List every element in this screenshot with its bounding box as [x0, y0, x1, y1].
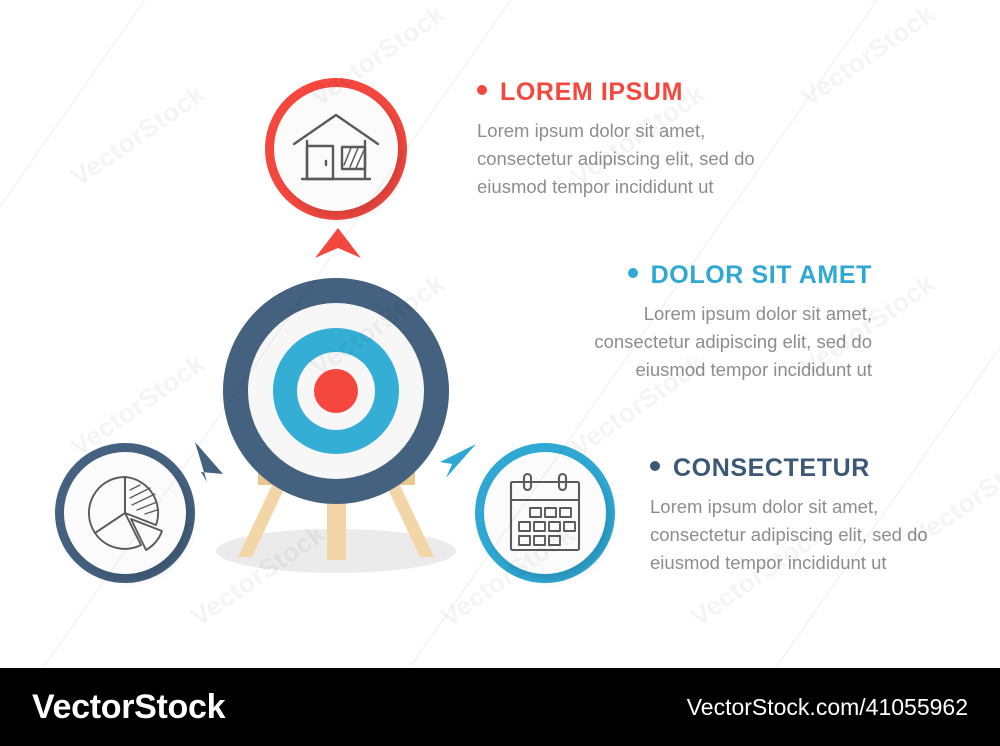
calendar-icon	[504, 471, 586, 555]
block-3-body: Lorem ipsum dolor sit amet, consectetur …	[650, 493, 928, 577]
block-3-bullet	[650, 461, 660, 471]
block-2-body-line-3: eiusmod tempor incididunt ut	[635, 359, 872, 380]
pie-chart-icon-circle[interactable]	[55, 443, 195, 583]
block-3-title: CONSECTETUR	[650, 456, 928, 481]
block-2-title-text: DOLOR SIT AMET	[651, 261, 872, 289]
target-dartboard-svg	[170, 270, 510, 590]
vectorstock-url: VectorStock.com/41055962	[687, 694, 968, 721]
block-3-body-line-1: Lorem ipsum dolor sit amet,	[650, 496, 878, 517]
text-block-lorem-ipsum: LOREM IPSUM Lorem ipsum dolor sit amet, …	[477, 80, 755, 201]
block-1-title-text: LOREM IPSUM	[500, 78, 683, 106]
block-1-bullet	[477, 85, 487, 95]
block-2-body-line-1: Lorem ipsum dolor sit amet,	[644, 303, 872, 324]
house-icon	[290, 109, 382, 189]
block-3-body-line-3: eiusmod tempor incididunt ut	[650, 552, 887, 573]
watermark-word: VectorStock	[795, 0, 940, 113]
text-block-consectetur: CONSECTETUR Lorem ipsum dolor sit amet, …	[650, 456, 928, 577]
block-2-title: DOLOR SIT AMET	[460, 263, 872, 288]
block-1-body-line-1: Lorem ipsum dolor sit amet,	[477, 120, 705, 141]
chevron-right-icon	[440, 440, 478, 487]
vectorstock-footer-bar: VectorStock VectorStock.com/41055962	[0, 668, 1000, 746]
target-dartboard	[170, 270, 510, 590]
infographic-canvas: VectorStockVectorStockVectorStockVectorS…	[0, 0, 1000, 746]
block-1-body: Lorem ipsum dolor sit amet, consectetur …	[477, 117, 755, 201]
pie-chart-icon	[83, 471, 167, 555]
calendar-icon-circle[interactable]	[475, 443, 615, 583]
block-3-body-line-2: consectetur adipiscing elit, sed do	[650, 524, 928, 545]
house-icon-circle[interactable]	[265, 78, 407, 220]
chevron-left-icon	[193, 440, 227, 487]
block-1-body-line-3: eiusmod tempor incididunt ut	[477, 176, 714, 197]
block-2-body-line-2: consectetur adipiscing elit, sed do	[594, 331, 872, 352]
block-1-title: LOREM IPSUM	[477, 80, 755, 105]
chevron-up-icon	[315, 228, 361, 265]
block-3-title-text: CONSECTETUR	[673, 454, 870, 482]
block-1-body-line-2: consectetur adipiscing elit, sed do	[477, 148, 755, 169]
watermark-word: VectorStock	[65, 78, 210, 193]
vectorstock-logo: VectorStock	[32, 688, 225, 727]
block-2-body: Lorem ipsum dolor sit amet, consectetur …	[460, 300, 872, 384]
target-ring-bullseye	[314, 369, 358, 413]
block-2-bullet	[628, 268, 638, 278]
text-block-dolor-sit-amet: DOLOR SIT AMET Lorem ipsum dolor sit ame…	[460, 263, 872, 384]
